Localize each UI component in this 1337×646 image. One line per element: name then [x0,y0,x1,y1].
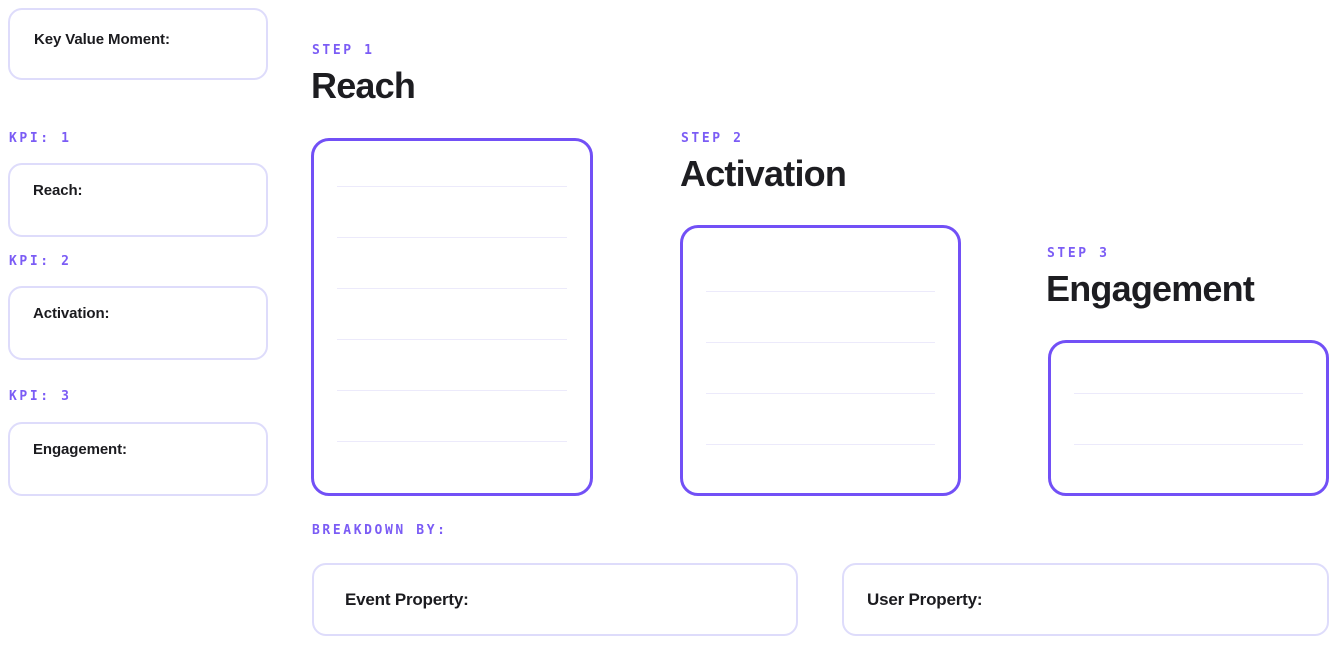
note-rule [337,390,567,391]
kpi-1-label: Reach: [33,183,82,198]
note-rule [337,186,567,187]
step-1-title: Reach [311,68,415,104]
kpi-2-label: Activation: [33,306,109,321]
step-2-eyebrow: STEP 2 [681,132,744,145]
step-1-eyebrow: STEP 1 [312,44,375,57]
kpi-1-eyebrow: KPI: 1 [9,132,72,145]
kpi-3-box[interactable]: Engagement: [8,422,268,496]
step-3-eyebrow: STEP 3 [1047,247,1110,260]
note-rule [1074,393,1303,394]
step-2-note-card[interactable] [680,225,961,496]
kpi-3-eyebrow: KPI: 3 [9,390,72,403]
note-rule [706,444,935,445]
step-1-note-card[interactable] [311,138,593,496]
breakdown-eyebrow: BREAKDOWN BY: [312,524,448,537]
user-property-label: User Property: [867,590,982,610]
note-rule [1074,444,1303,445]
note-rule [337,441,567,442]
key-value-moment-box[interactable]: Key Value Moment: [8,8,268,80]
key-value-moment-label: Key Value Moment: [34,32,170,47]
note-rule [706,291,935,292]
note-rule [337,339,567,340]
worksheet-canvas: Key Value Moment: KPI: 1 Reach: KPI: 2 A… [0,0,1337,646]
note-rule [337,288,567,289]
kpi-1-box[interactable]: Reach: [8,163,268,237]
kpi-2-box[interactable]: Activation: [8,286,268,360]
note-rule [706,342,935,343]
step-3-note-card[interactable] [1048,340,1329,496]
event-property-label: Event Property: [345,590,469,610]
kpi-2-eyebrow: KPI: 2 [9,255,72,268]
user-property-box[interactable]: User Property: [842,563,1329,636]
step-3-title: Engagement [1046,271,1254,307]
note-rule [706,393,935,394]
note-rule [337,237,567,238]
event-property-box[interactable]: Event Property: [312,563,798,636]
kpi-3-label: Engagement: [33,442,127,457]
step-2-title: Activation [680,156,846,192]
